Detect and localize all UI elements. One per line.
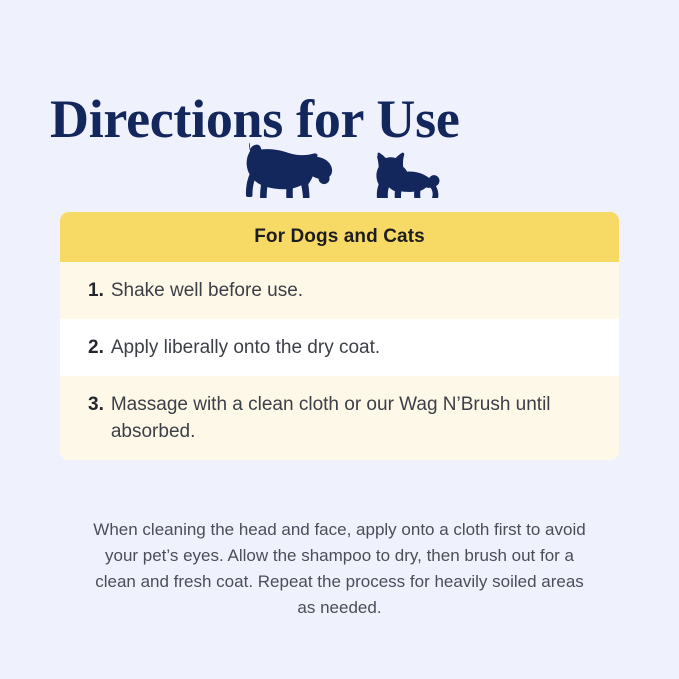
step-text: Shake well before use. [111, 277, 595, 304]
step-text: Massage with a clean cloth or our Wag N’… [111, 391, 595, 445]
card-header: For Dogs and Cats [60, 212, 619, 262]
pet-icons-row [0, 136, 679, 198]
footer-note: When cleaning the head and face, apply o… [88, 517, 591, 621]
directions-for-use-page: Directions for Use For Dogs and Cats 1. … [0, 0, 679, 679]
step-number: 1. [88, 277, 104, 304]
list-item: 3. Massage with a clean cloth or our Wag… [60, 376, 619, 460]
step-number: 3. [88, 391, 104, 418]
step-text: Apply liberally onto the dry coat. [111, 334, 595, 361]
list-item: 2. Apply liberally onto the dry coat. [60, 319, 619, 376]
list-item: 1. Shake well before use. [60, 262, 619, 319]
steps-list: 1. Shake well before use. 2. Apply liber… [60, 262, 619, 460]
step-number: 2. [88, 334, 104, 361]
directions-card: For Dogs and Cats 1. Shake well before u… [60, 212, 619, 460]
dog-silhouette-icon [237, 143, 333, 198]
cat-silhouette-icon [369, 152, 443, 198]
